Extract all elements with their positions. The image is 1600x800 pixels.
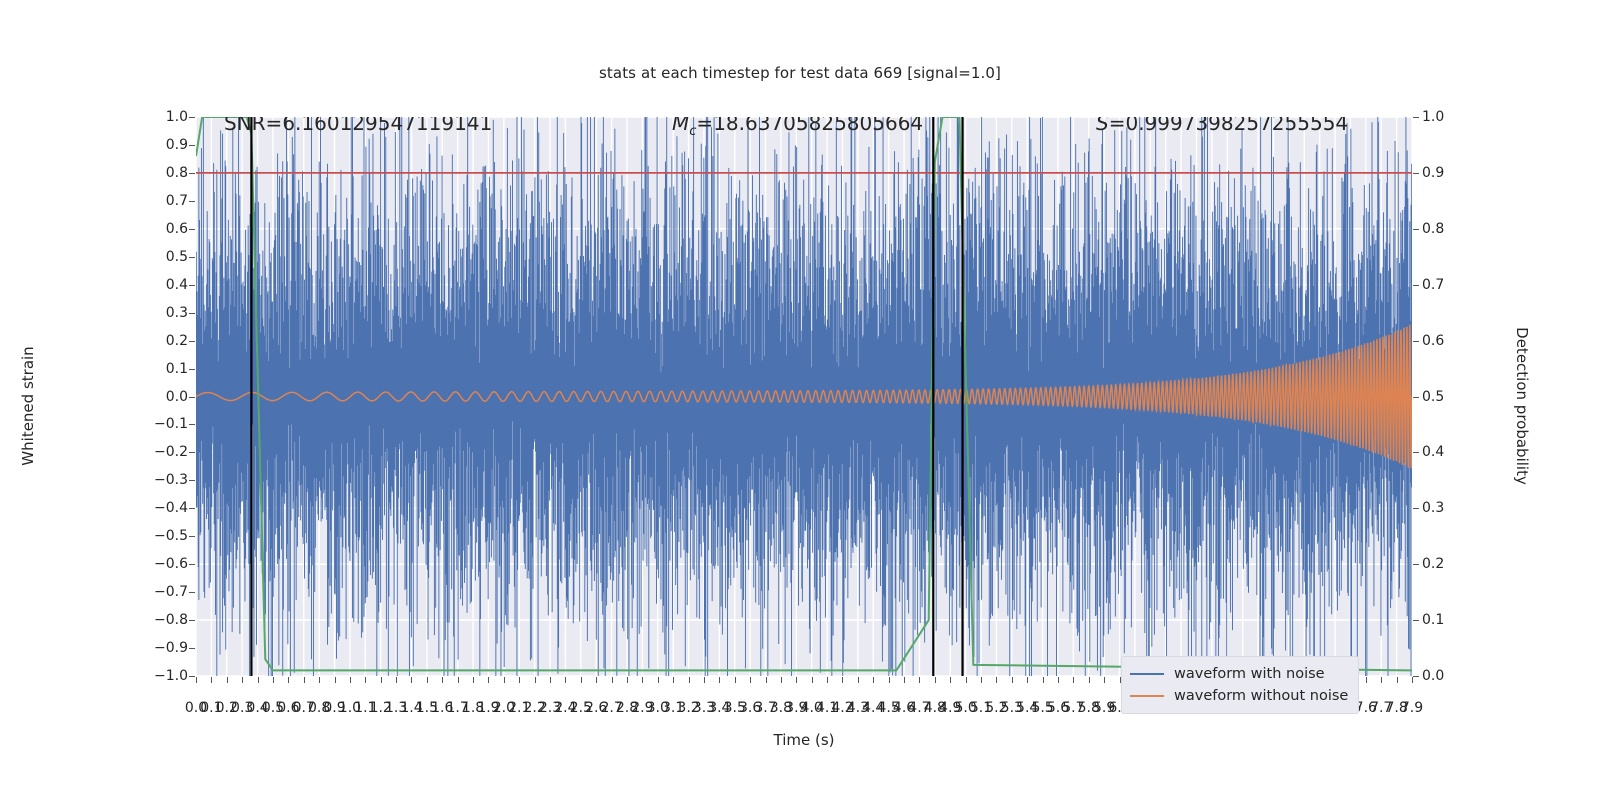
y-tick-mark-left — [189, 313, 195, 314]
y-tick-mark-left — [189, 173, 195, 174]
x-tick-mark — [904, 677, 905, 683]
x-tick-mark — [335, 677, 336, 683]
plot-canvas — [196, 117, 1412, 676]
y-tick-label-left: 0.3 — [166, 305, 188, 321]
y-tick-label-right: 0.9 — [1422, 165, 1444, 181]
matplotlib-figure: stats at each timestep for test data 669… — [0, 0, 1600, 800]
x-tick-mark — [781, 677, 782, 683]
x-tick-mark — [689, 677, 690, 683]
x-tick-mark — [1397, 677, 1398, 683]
y-axis-label-left: Whitened strain — [19, 256, 37, 556]
y-tick-label-right: 0.1 — [1422, 612, 1444, 628]
y-tick-mark-left — [189, 452, 195, 453]
y-tick-mark-left — [189, 257, 195, 258]
x-tick-mark — [581, 677, 582, 683]
x-tick-mark — [1089, 677, 1090, 683]
y-tick-label-left: 0.2 — [166, 333, 188, 349]
y-tick-mark-left — [189, 201, 195, 202]
x-tick-mark — [966, 677, 967, 683]
y-tick-mark-right — [1413, 452, 1419, 453]
y-tick-mark-right — [1413, 285, 1419, 286]
y-tick-label-left: 0.6 — [166, 221, 188, 237]
y-tick-mark-left — [189, 620, 195, 621]
x-tick-mark — [796, 677, 797, 683]
x-tick-mark — [258, 677, 259, 683]
x-tick-mark — [396, 677, 397, 683]
y-tick-label-left: 0.8 — [166, 165, 188, 181]
x-tick-mark — [411, 677, 412, 683]
x-tick-mark — [211, 677, 212, 683]
x-tick-mark — [1012, 677, 1013, 683]
y-tick-label-left: 0.5 — [166, 249, 188, 265]
x-tick-mark — [442, 677, 443, 683]
y-tick-mark-left — [189, 592, 195, 593]
y-tick-label-left: 0.4 — [166, 277, 188, 293]
x-tick-mark — [842, 677, 843, 683]
legend-swatch-signal — [1130, 695, 1164, 697]
x-tick-mark — [873, 677, 874, 683]
x-tick-label: 7.9 — [1401, 700, 1423, 716]
y-tick-mark-right — [1413, 341, 1419, 342]
x-tick-mark — [196, 677, 197, 683]
y-tick-mark-right — [1413, 508, 1419, 509]
y-tick-mark-left — [189, 117, 195, 118]
x-axis-label: Time (s) — [196, 731, 1412, 749]
y-tick-mark-right — [1413, 173, 1419, 174]
y-tick-label-right: 0.5 — [1422, 389, 1444, 405]
x-tick-mark — [935, 677, 936, 683]
x-tick-mark — [1412, 677, 1413, 683]
y-tick-mark-left — [189, 341, 195, 342]
annotation-score: S=0.9997398257255554 — [1096, 117, 1348, 135]
y-tick-mark-left — [189, 145, 195, 146]
x-tick-mark — [304, 677, 305, 683]
legend-item-noise[interactable]: waveform with noise — [1130, 663, 1348, 685]
y-tick-mark-right — [1413, 620, 1419, 621]
y-tick-label-left: −1.0 — [154, 668, 188, 684]
x-tick-mark — [658, 677, 659, 683]
y-tick-mark-right — [1413, 229, 1419, 230]
x-tick-mark — [750, 677, 751, 683]
x-tick-mark — [473, 677, 474, 683]
x-tick-mark — [889, 677, 890, 683]
annotation-snr: SNR=6.160129547119141 — [224, 117, 492, 135]
x-tick-mark — [535, 677, 536, 683]
y-tick-mark-right — [1413, 676, 1419, 677]
y-axis-label-right: Detection probability — [1513, 256, 1531, 556]
x-tick-mark — [858, 677, 859, 683]
x-tick-mark — [1073, 677, 1074, 683]
y-tick-label-right: 0.4 — [1422, 444, 1444, 460]
y-tick-label-left: −0.2 — [154, 444, 188, 460]
x-tick-mark — [504, 677, 505, 683]
x-tick-mark — [365, 677, 366, 683]
x-tick-mark — [1027, 677, 1028, 683]
x-tick-mark — [627, 677, 628, 683]
y-tick-label-left: −0.7 — [154, 584, 188, 600]
x-tick-mark — [735, 677, 736, 683]
x-tick-mark — [919, 677, 920, 683]
x-tick-mark — [565, 677, 566, 683]
legend[interactable]: waveform with noise waveform without noi… — [1121, 656, 1359, 714]
x-tick-mark — [227, 677, 228, 683]
x-tick-mark — [427, 677, 428, 683]
x-tick-mark — [273, 677, 274, 683]
y-tick-label-right: 1.0 — [1422, 109, 1444, 125]
y-tick-mark-left — [189, 229, 195, 230]
x-tick-mark — [319, 677, 320, 683]
y-tick-mark-left — [189, 397, 195, 398]
y-tick-mark-right — [1413, 564, 1419, 565]
x-tick-mark — [458, 677, 459, 683]
x-tick-mark — [550, 677, 551, 683]
legend-label-signal: waveform without noise — [1174, 688, 1348, 704]
y-tick-mark-left — [189, 285, 195, 286]
y-tick-mark-right — [1413, 117, 1419, 118]
y-tick-label-right: 0.6 — [1422, 333, 1444, 349]
x-tick-mark — [488, 677, 489, 683]
x-tick-mark — [381, 677, 382, 683]
x-tick-mark — [827, 677, 828, 683]
legend-item-signal[interactable]: waveform without noise — [1130, 685, 1348, 707]
y-tick-mark-left — [189, 536, 195, 537]
x-tick-mark — [673, 677, 674, 683]
legend-label-noise: waveform with noise — [1174, 666, 1325, 682]
y-tick-mark-left — [189, 369, 195, 370]
y-tick-label-right: 0.0 — [1422, 668, 1444, 684]
y-tick-mark-left — [189, 508, 195, 509]
y-tick-label-left: 0.0 — [166, 389, 188, 405]
y-tick-label-left: −0.4 — [154, 500, 188, 516]
x-tick-mark — [812, 677, 813, 683]
y-tick-label-left: 1.0 — [166, 109, 188, 125]
x-tick-mark — [719, 677, 720, 683]
x-tick-mark — [950, 677, 951, 683]
y-tick-mark-left — [189, 564, 195, 565]
y-tick-mark-left — [189, 676, 195, 677]
x-tick-mark — [981, 677, 982, 683]
x-tick-mark — [242, 677, 243, 683]
y-tick-mark-left — [189, 424, 195, 425]
x-tick-mark — [596, 677, 597, 683]
y-tick-mark-right — [1413, 397, 1419, 398]
y-tick-label-left: −0.1 — [154, 416, 188, 432]
y-tick-label-left: −0.9 — [154, 640, 188, 656]
x-tick-mark — [704, 677, 705, 683]
y-tick-mark-left — [189, 648, 195, 649]
x-tick-mark — [519, 677, 520, 683]
y-tick-label-right: 0.7 — [1422, 277, 1444, 293]
page-title: stats at each timestep for test data 669… — [0, 64, 1600, 82]
x-tick-mark — [996, 677, 997, 683]
x-tick-mark — [1366, 677, 1367, 683]
legend-swatch-noise — [1130, 673, 1164, 675]
x-tick-mark — [288, 677, 289, 683]
x-tick-mark — [350, 677, 351, 683]
x-tick-mark — [642, 677, 643, 683]
x-tick-mark — [612, 677, 613, 683]
y-tick-mark-left — [189, 480, 195, 481]
x-tick-mark — [766, 677, 767, 683]
y-tick-label-left: −0.8 — [154, 612, 188, 628]
y-tick-label-left: 0.1 — [166, 361, 188, 377]
x-tick-mark — [1058, 677, 1059, 683]
y-tick-label-left: −0.6 — [154, 556, 188, 572]
y-tick-label-left: −0.5 — [154, 528, 188, 544]
x-tick-mark — [1381, 677, 1382, 683]
x-tick-mark — [1104, 677, 1105, 683]
y-tick-label-left: 0.9 — [166, 137, 188, 153]
plot-axes: SNR=6.160129547119141 Mc=18.637058258056… — [196, 117, 1412, 676]
y-tick-label-left: 0.7 — [166, 193, 188, 209]
y-tick-label-right: 0.3 — [1422, 500, 1444, 516]
y-tick-label-left: −0.3 — [154, 472, 188, 488]
x-tick-mark — [1043, 677, 1044, 683]
y-tick-label-right: 0.8 — [1422, 221, 1444, 237]
annotation-chirp-mass: Mc=18.63705825805664 — [672, 117, 923, 139]
y-tick-label-right: 0.2 — [1422, 556, 1444, 572]
